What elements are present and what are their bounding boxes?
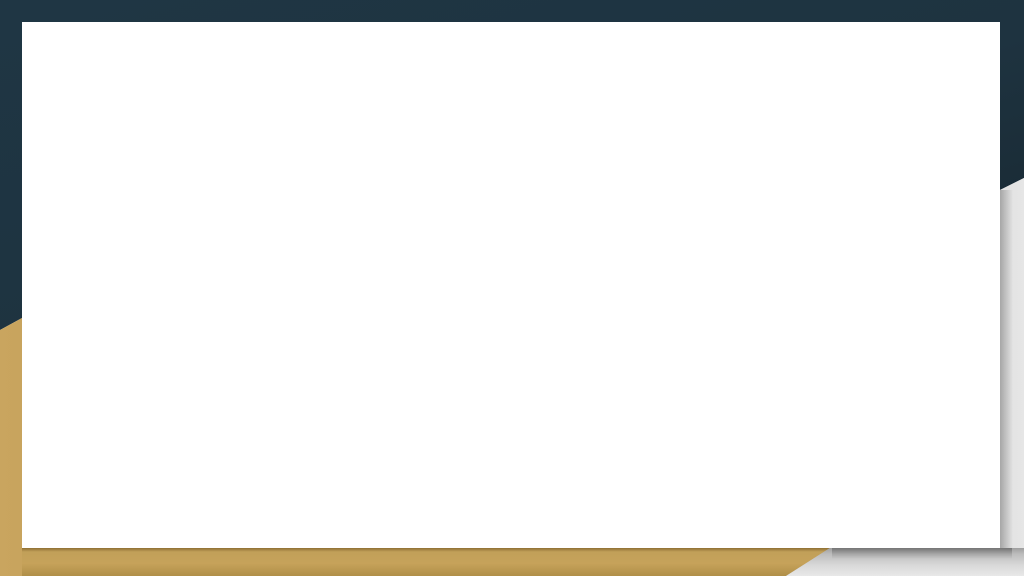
white-content-card [22, 22, 1000, 548]
presentation-slide: Check .htaccess File Disable .htaccess a… [0, 0, 1024, 576]
